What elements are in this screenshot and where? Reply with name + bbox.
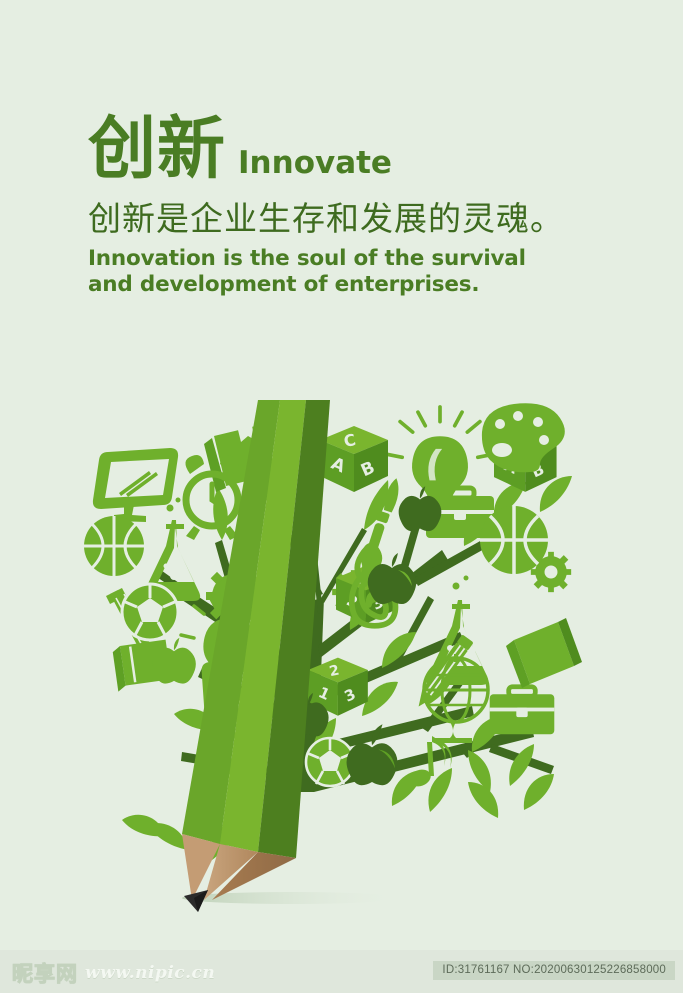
pencil-tree-illustration: C A B C A B — [62, 400, 622, 920]
subtitle-chinese: 创新是企业生存和发展的灵魂。 — [88, 199, 628, 239]
image-id-badge: ID:31761167 NO:20200630125226858000 — [433, 961, 675, 980]
subtitle-english-line-1: Innovation is the soul of the survival — [88, 246, 603, 271]
basketball-icon — [84, 516, 144, 576]
basketball-icon — [480, 506, 548, 574]
site-logo-chinese: 昵享网 — [12, 958, 78, 988]
soccer-ball-icon — [122, 584, 178, 640]
book-icon — [506, 618, 582, 688]
page-title-english: Innovate — [238, 148, 392, 183]
page-title-chinese: 创新 — [88, 118, 226, 183]
site-logo-url: www.nipic.cn — [85, 963, 215, 983]
headline-block: 创新 Innovate 创新是企业生存和发展的灵魂。 Innovation is… — [88, 118, 628, 297]
abc-dice-icon: C A B — [320, 426, 388, 492]
monitor-icon — [93, 448, 178, 522]
poster-canvas: 创新 Innovate 创新是企业生存和发展的灵魂。 Innovation is… — [0, 0, 683, 993]
subtitle-english-line-2: and development of enterprises. — [88, 272, 603, 297]
subtitle-english: Innovation is the soul of the survival a… — [88, 246, 603, 297]
footer-watermark-bar: 昵享网 www.nipic.cn ID:31761167 NO:20200630… — [0, 950, 683, 993]
title-row: 创新 Innovate — [88, 118, 628, 183]
briefcase-icon — [490, 687, 555, 735]
site-logo: 昵享网 www.nipic.cn — [12, 958, 215, 988]
